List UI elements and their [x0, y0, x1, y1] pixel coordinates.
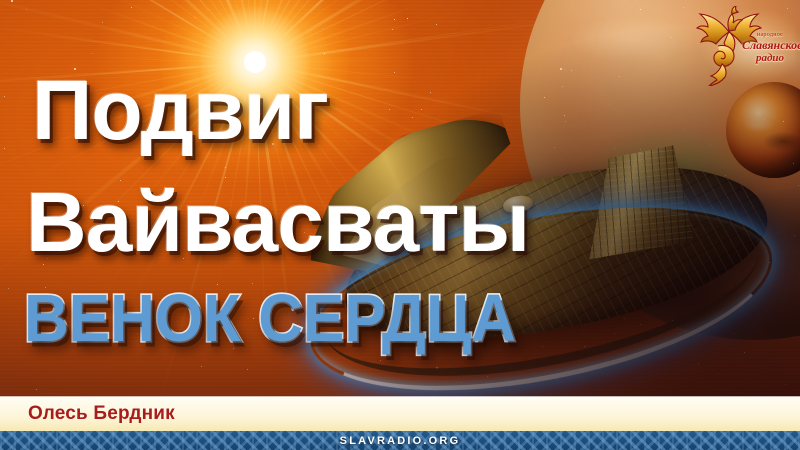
logo-text-group: народное Славянское радио	[742, 32, 798, 64]
poster-canvas: Подвиг Вайвасваты ВЕНОК СЕРДЦА	[0, 0, 800, 450]
radio-station-logo[interactable]: народное Славянское радио	[694, 2, 798, 90]
author-bar: Олесь Бердник	[0, 397, 800, 431]
title-line-2: Вайвасваты	[26, 180, 529, 264]
site-url: SLAVRADIO.ORG	[0, 431, 800, 450]
title-block: Подвиг Вайвасваты ВЕНОК СЕРДЦА	[0, 0, 800, 400]
author-name: Олесь Бердник	[28, 403, 175, 425]
subtitle: ВЕНОК СЕРДЦА	[24, 286, 516, 353]
logo-second-word: радио	[742, 52, 798, 64]
logo-main-word: Славянское	[742, 39, 798, 52]
title-line-1: Подвиг	[32, 68, 328, 152]
ornament-footer-bar: SLAVRADIO.ORG	[0, 431, 800, 450]
